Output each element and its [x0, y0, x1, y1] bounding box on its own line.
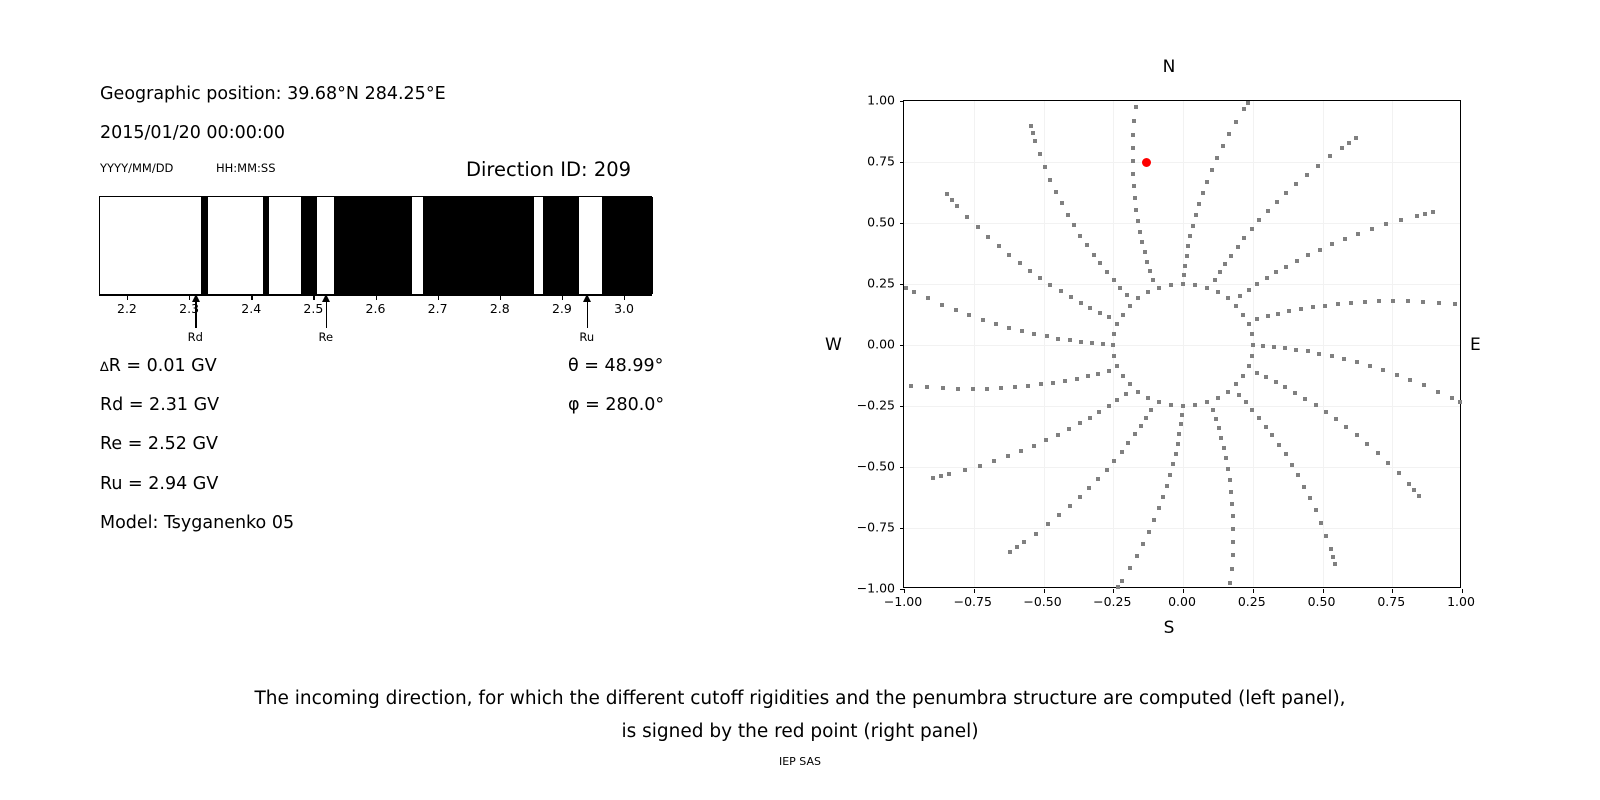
direction-grid-point [1415, 214, 1419, 218]
gridline-horizontal [904, 345, 1460, 346]
direction-grid-point [1216, 396, 1220, 400]
direction-grid-point [1126, 441, 1130, 445]
direction-grid-point [1112, 332, 1116, 336]
footer-credit: IEP SAS [0, 755, 1600, 768]
rigidity-axis: 2.22.32.42.52.62.72.82.93.0RdReRu [99, 295, 652, 296]
direction-grid-point [1116, 585, 1120, 589]
direction-grid-point [1045, 334, 1049, 338]
direction-grid-point [1458, 400, 1462, 404]
direction-grid-point [1211, 408, 1215, 412]
y-axis-tick-label: 0.25 [835, 276, 895, 291]
direction-grid-point [1181, 282, 1185, 286]
direction-grid-point [1157, 400, 1161, 404]
cutoff-marker-label: Rd [188, 330, 203, 344]
direction-grid-point [1293, 391, 1297, 395]
direction-grid-point [1406, 299, 1410, 303]
direction-grid-point [1294, 182, 1298, 186]
direction-grid-point [1283, 385, 1287, 389]
direction-grid-point [1197, 202, 1201, 206]
direction-grid-point [1138, 230, 1142, 234]
direction-grid-point [1221, 144, 1225, 148]
direction-grid-point [1255, 282, 1259, 286]
direction-grid-point [1032, 444, 1036, 448]
compass-north-label: N [1163, 57, 1176, 77]
delta-symbol: ∆ [100, 360, 109, 375]
direction-grid-point [1370, 227, 1374, 231]
direction-map-panel: N S W E −1.00−0.75−0.50−0.250.000.250.50… [820, 50, 1520, 650]
rd-value: Rd = 2.31 GV [100, 395, 219, 415]
direction-grid-point [1022, 540, 1026, 544]
direction-grid-point [1250, 354, 1254, 358]
direction-grid-point [1238, 294, 1242, 298]
figure-caption: The incoming direction, for which the di… [0, 682, 1600, 748]
penumbra-panel: Geographic position: 39.68°N 284.25°E 20… [0, 0, 760, 660]
direction-grid-point [1120, 579, 1124, 583]
direction-grid-point [1079, 301, 1083, 305]
direction-grid-point [1149, 408, 1153, 412]
delta-r-text: R = 0.01 GV [109, 356, 217, 376]
direction-grid-point [1145, 260, 1149, 264]
direction-grid-point [971, 387, 975, 391]
direction-grid-point [1227, 132, 1231, 136]
penumbra-forbidden-band [334, 197, 412, 294]
rigidity-tick [624, 296, 625, 300]
gridline-horizontal [904, 162, 1460, 163]
direction-grid-point [1274, 270, 1278, 274]
direction-grid-point [1336, 302, 1340, 306]
y-axis-tick-label: 0.50 [835, 215, 895, 230]
penumbra-forbidden-band [423, 197, 533, 294]
direction-grid-point [1006, 454, 1010, 458]
x-axis-tick [1392, 589, 1393, 593]
direction-grid-point [1072, 223, 1076, 227]
rigidity-tick [438, 296, 439, 300]
direction-grid-point [1234, 304, 1238, 308]
phi-value: φ = 280.0° [568, 395, 664, 415]
direction-grid-point [1169, 403, 1173, 407]
direction-grid-point [1319, 521, 1323, 525]
direction-grid-point [1019, 449, 1023, 453]
direction-grid-point [1066, 213, 1070, 217]
direction-grid-point [1034, 532, 1038, 536]
x-axis-tick [1113, 589, 1114, 593]
direction-grid-point [1408, 378, 1412, 382]
direction-grid-point [1331, 555, 1335, 559]
direction-grid-point [1063, 379, 1067, 383]
direction-grid-point [1343, 237, 1347, 241]
direction-grid-point [1261, 344, 1265, 348]
direction-grid-point [939, 474, 943, 478]
direction-grid-point [1231, 527, 1235, 531]
penumbra-forbidden-band [602, 197, 653, 294]
direction-grid-point [1115, 322, 1119, 326]
direction-grid-point [1317, 352, 1321, 356]
direction-grid-point [912, 290, 916, 294]
direction-grid-point [1324, 534, 1328, 538]
direction-grid-point [1294, 348, 1298, 352]
rigidity-tick-label: 2.2 [117, 301, 137, 316]
direction-grid-point [1224, 456, 1228, 460]
x-axis-tick-label: 0.75 [1377, 594, 1405, 609]
rigidity-tick-label: 2.6 [366, 301, 386, 316]
re-value: Re = 2.52 GV [100, 434, 218, 454]
y-axis-tick-label: 1.00 [835, 93, 895, 108]
direction-grid-point [994, 322, 998, 326]
direction-grid-point [1329, 547, 1333, 551]
cutoff-marker-label: Ru [579, 330, 594, 344]
direction-grid-point [978, 464, 982, 468]
direction-grid-point [940, 303, 944, 307]
direction-grid-point [1397, 471, 1401, 475]
y-axis-tick [900, 162, 904, 163]
direction-grid-point [1231, 553, 1235, 557]
direction-grid-point [1179, 422, 1183, 426]
direction-grid-point [1133, 196, 1137, 200]
direction-grid-point [1306, 349, 1310, 353]
direction-grid-point [1135, 554, 1139, 558]
direction-grid-point [1131, 133, 1135, 137]
direction-grid-point [1048, 178, 1052, 182]
direction-grid-point [1031, 131, 1035, 135]
direction-grid-point [1029, 124, 1033, 128]
direction-grid-point [1112, 278, 1116, 282]
direction-grid-point [1112, 354, 1116, 358]
direction-grid-point [1330, 242, 1334, 246]
x-axis-tick-label: −0.50 [1023, 594, 1061, 609]
date-format-hint: YYYY/MM/DD [100, 161, 173, 175]
direction-grid-point [1277, 443, 1281, 447]
direction-grid-point [1141, 542, 1145, 546]
y-axis-tick [900, 345, 904, 346]
direction-grid-point [1188, 234, 1192, 238]
direction-grid-point [1125, 293, 1129, 297]
direction-map-plot [903, 100, 1461, 588]
direction-grid-point [1344, 425, 1348, 429]
direction-grid-point [1038, 276, 1042, 280]
direction-grid-point [1264, 425, 1268, 429]
penumbra-forbidden-band [301, 197, 317, 294]
x-axis-tick [904, 589, 905, 593]
x-axis-tick-label: −1.00 [884, 594, 922, 609]
direction-grid-point [1046, 522, 1050, 526]
direction-grid-point [1246, 101, 1250, 105]
direction-grid-point [1157, 506, 1161, 510]
arrow-head-icon [192, 294, 200, 302]
direction-grid-point [1284, 265, 1288, 269]
direction-grid-point [1302, 485, 1306, 489]
direction-grid-point [986, 235, 990, 239]
direction-grid-point [965, 215, 969, 219]
direction-grid-point [1384, 222, 1388, 226]
direction-grid-point [1355, 433, 1359, 437]
direction-grid-point [1354, 136, 1358, 140]
direction-grid-point [1251, 343, 1255, 347]
direction-grid-point [1237, 393, 1241, 397]
y-axis-tick [900, 284, 904, 285]
direction-grid-point [1059, 289, 1063, 293]
direction-grid-point [1068, 338, 1072, 342]
direction-grid-point [1205, 286, 1209, 290]
direction-grid-point [1151, 278, 1155, 282]
x-axis-tick-label: 0.25 [1238, 594, 1266, 609]
direction-grid-point [1241, 374, 1245, 378]
direction-grid-point [1399, 218, 1403, 222]
x-axis-tick-label: −0.25 [1093, 594, 1131, 609]
direction-grid-point [1218, 270, 1222, 274]
direction-grid-point [1134, 105, 1138, 109]
direction-grid-point [1230, 502, 1234, 506]
rigidity-tick [376, 296, 377, 300]
direction-grid-point [1139, 424, 1143, 428]
direction-grid-point [904, 286, 908, 290]
direction-grid-point [1250, 332, 1254, 336]
y-axis-tick [900, 101, 904, 102]
direction-grid-point [1234, 382, 1238, 386]
rigidity-tick [189, 296, 190, 300]
direction-grid-point [1057, 513, 1061, 517]
direction-grid-point [1250, 408, 1254, 412]
direction-grid-point [985, 387, 989, 391]
direction-grid-point [1376, 451, 1380, 455]
direction-grid-point [1255, 317, 1259, 321]
direction-grid-point [1205, 180, 1209, 184]
direction-grid-point [1051, 381, 1055, 385]
rigidity-tick [251, 296, 252, 300]
direction-grid-point [1133, 432, 1137, 436]
cutoff-marker-label: Re [319, 330, 334, 344]
direction-grid-point [1143, 250, 1147, 254]
direction-grid-point [1128, 304, 1132, 308]
direction-grid-point [1311, 305, 1315, 309]
direction-grid-point [1128, 382, 1132, 386]
selected-direction-marker[interactable] [1142, 158, 1151, 167]
direction-grid-point [1284, 191, 1288, 195]
rigidity-tick [127, 296, 128, 300]
direction-grid-point [1234, 120, 1238, 124]
direction-grid-point [1290, 463, 1294, 467]
gridline-vertical [1183, 101, 1184, 587]
direction-grid-point [1060, 201, 1064, 205]
direction-id-label: Direction ID: 209 [466, 158, 631, 181]
penumbra-forbidden-band [543, 197, 579, 294]
compass-south-label: S [1164, 618, 1175, 638]
penumbra-bar [99, 196, 652, 295]
direction-grid-point [1007, 253, 1011, 257]
direction-grid-point [931, 476, 935, 480]
direction-grid-point [1363, 300, 1367, 304]
direction-grid-point [941, 386, 945, 390]
direction-grid-point [1314, 508, 1318, 512]
gridline-vertical [974, 101, 975, 587]
direction-grid-point [909, 384, 913, 388]
direction-grid-point [1078, 421, 1082, 425]
direction-grid-point [1107, 369, 1111, 373]
direction-grid-point [1015, 545, 1019, 549]
direction-grid-point [1147, 530, 1151, 534]
direction-grid-point [967, 313, 971, 317]
direction-grid-point [1201, 191, 1205, 195]
direction-grid-point [1101, 342, 1105, 346]
direction-grid-point [1229, 490, 1233, 494]
direction-grid-point [1266, 209, 1270, 213]
direction-grid-point [1038, 152, 1042, 156]
direction-grid-point [1146, 396, 1150, 400]
x-axis-tick [1044, 589, 1045, 593]
rigidity-tick-label: 3.0 [614, 301, 634, 316]
direction-grid-point [1228, 478, 1232, 482]
direction-grid-point [950, 198, 954, 202]
direction-grid-point [1165, 484, 1169, 488]
x-axis-tick [1183, 589, 1184, 593]
direction-grid-point [1032, 332, 1036, 336]
direction-grid-point [1222, 446, 1226, 450]
direction-grid-point [997, 244, 1001, 248]
direction-grid-point [1132, 184, 1136, 188]
direction-grid-point [1056, 433, 1060, 437]
direction-grid-point [999, 386, 1003, 390]
direction-grid-point [1069, 295, 1073, 299]
direction-grid-point [1186, 244, 1190, 248]
direction-grid-point [1236, 245, 1240, 249]
y-axis-tick [900, 528, 904, 529]
direction-grid-point [1340, 146, 1344, 150]
direction-grid-point [1274, 380, 1278, 384]
direction-grid-point [1105, 270, 1109, 274]
direction-grid-point [925, 385, 929, 389]
direction-grid-point [955, 204, 959, 208]
caption-line-1: The incoming direction, for which the di… [0, 682, 1600, 715]
direction-grid-point [1007, 326, 1011, 330]
arrow-head-icon [322, 294, 330, 302]
direction-grid-point [1131, 146, 1135, 150]
x-axis-tick-label: 0.00 [1168, 594, 1196, 609]
direction-grid-point [1177, 432, 1181, 436]
direction-grid-point [1191, 224, 1195, 228]
x-axis-tick [1253, 589, 1254, 593]
direction-grid-point [1096, 372, 1100, 376]
direction-grid-point [1226, 390, 1230, 394]
y-axis-tick-label: −0.50 [835, 459, 895, 474]
direction-grid-point [1264, 375, 1268, 379]
y-axis-tick [900, 406, 904, 407]
direction-grid-point [1120, 450, 1124, 454]
direction-grid-point [1229, 254, 1233, 258]
direction-grid-point [1128, 566, 1132, 570]
direction-grid-point [1422, 383, 1426, 387]
direction-grid-point [1020, 329, 1024, 333]
direction-grid-point [976, 225, 980, 229]
direction-grid-point [1257, 218, 1261, 222]
direction-grid-point [1131, 172, 1135, 176]
direction-grid-point [1105, 468, 1109, 472]
direction-grid-point [1216, 290, 1220, 294]
direction-grid-point [1152, 518, 1156, 522]
ru-value: Ru = 2.94 GV [100, 474, 218, 494]
direction-grid-point [954, 308, 958, 312]
direction-grid-point [1096, 477, 1100, 481]
direction-grid-point [1272, 345, 1276, 349]
geographic-position-label: Geographic position: 39.68°N 284.25°E [100, 84, 446, 104]
direction-grid-point [1098, 311, 1102, 315]
direction-grid-point [1314, 403, 1318, 407]
direction-grid-point [1219, 436, 1223, 440]
direction-grid-point [1255, 371, 1259, 375]
direction-grid-point [1342, 357, 1346, 361]
direction-grid-point [1437, 301, 1441, 305]
direction-grid-point [1242, 107, 1246, 111]
direction-grid-point [1013, 385, 1017, 389]
direction-grid-point [1349, 301, 1353, 305]
direction-grid-point [1217, 426, 1221, 430]
direction-grid-point [1085, 243, 1089, 247]
direction-grid-point [1078, 234, 1082, 238]
direction-grid-point [1026, 384, 1030, 388]
direction-grid-point [1417, 494, 1421, 498]
direction-grid-point [1171, 462, 1175, 466]
time-format-hint: HH:MM:SS [216, 161, 276, 175]
direction-grid-point [1088, 416, 1092, 420]
direction-grid-point [1316, 164, 1320, 168]
direction-grid-point [1008, 550, 1012, 554]
direction-grid-point [1121, 374, 1125, 378]
direction-grid-point [1395, 373, 1399, 377]
direction-grid-point [1115, 398, 1119, 402]
direction-grid-point [1087, 486, 1091, 490]
direction-grid-point [1287, 309, 1291, 313]
y-axis-tick-label: −0.75 [835, 520, 895, 535]
direction-grid-point [1043, 165, 1047, 169]
direction-grid-point [1265, 276, 1269, 280]
direction-grid-point [1421, 300, 1425, 304]
direction-grid-point [1328, 154, 1332, 158]
direction-grid-point [981, 318, 985, 322]
direction-grid-point [1182, 273, 1186, 277]
direction-grid-point [1214, 417, 1218, 421]
direction-grid-point [1086, 374, 1090, 378]
direction-grid-point [1193, 403, 1197, 407]
direction-grid-point [1118, 286, 1122, 290]
direction-grid-point [1039, 382, 1043, 386]
direction-grid-point [1033, 139, 1037, 143]
direction-grid-point [1193, 283, 1197, 287]
direction-grid-point [1210, 168, 1214, 172]
direction-grid-point [1054, 190, 1058, 194]
direction-grid-point [1140, 240, 1144, 244]
direction-grid-point [992, 459, 996, 463]
datetime-label: 2015/01/20 00:00:00 [100, 123, 285, 143]
direction-grid-point [1168, 473, 1172, 477]
y-axis-tick [900, 223, 904, 224]
rigidity-tick-label: 2.5 [303, 301, 323, 316]
y-axis-tick-label: 0.00 [835, 337, 895, 352]
direction-grid-point [1112, 459, 1116, 463]
x-axis-tick-label: −0.75 [954, 594, 992, 609]
direction-grid-point [1275, 200, 1279, 204]
direction-grid-point [1098, 261, 1102, 265]
direction-grid-point [1355, 360, 1359, 364]
direction-grid-point [1161, 495, 1165, 499]
direction-grid-point [1453, 302, 1457, 306]
direction-grid-point [1334, 417, 1338, 421]
direction-grid-point [1144, 416, 1148, 420]
direction-grid-point [1131, 159, 1135, 163]
direction-grid-point [1270, 433, 1274, 437]
direction-grid-point [1250, 227, 1254, 231]
direction-grid-point [1306, 253, 1310, 257]
direction-grid-point [1146, 290, 1150, 294]
x-axis-tick-label: 0.50 [1308, 594, 1336, 609]
direction-grid-point [1121, 313, 1125, 317]
